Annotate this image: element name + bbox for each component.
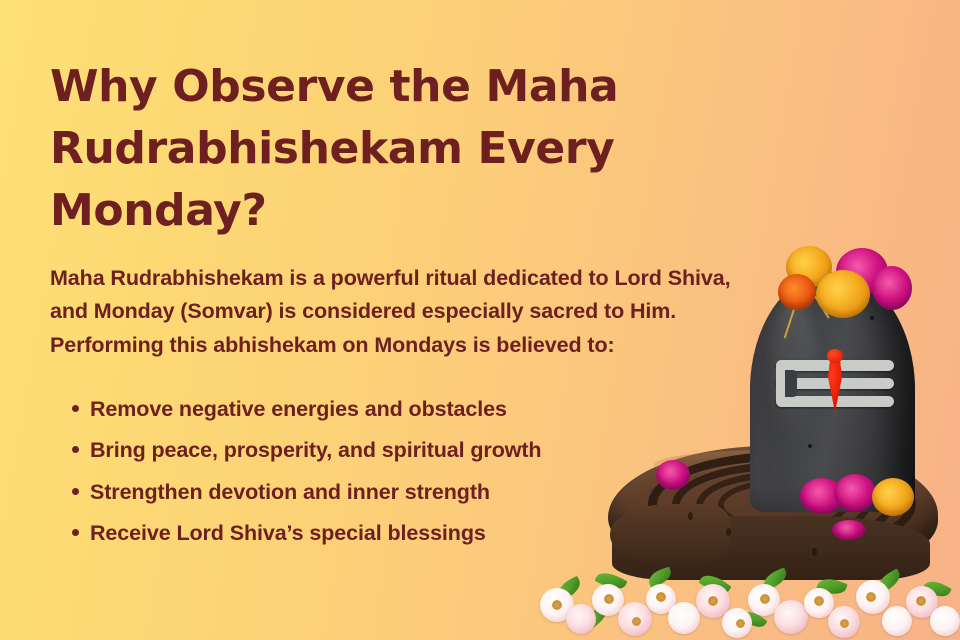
magenta-flower bbox=[834, 474, 876, 512]
list-item: Strengthen devotion and inner strength bbox=[72, 475, 780, 509]
tripundra-icon bbox=[776, 358, 896, 410]
blossom-flower bbox=[540, 588, 574, 622]
page-title: Why Observe the Maha Rudrabhishekam Ever… bbox=[50, 56, 780, 242]
marigold-flower bbox=[778, 274, 816, 310]
headline-line-1: Why Observe the Maha bbox=[50, 56, 780, 118]
magenta-flower bbox=[872, 266, 912, 310]
leaf-icon bbox=[554, 576, 584, 601]
promotional-banner: Why Observe the Maha Rudrabhishekam Ever… bbox=[0, 0, 960, 640]
lingam-pore bbox=[808, 444, 812, 448]
lingam-pore bbox=[870, 316, 874, 320]
magenta-flower bbox=[832, 520, 866, 540]
list-item-label: Strengthen devotion and inner strength bbox=[90, 480, 490, 504]
bullet-dot-icon bbox=[72, 529, 79, 536]
body-paragraph: Maha Rudrabhishekam is a powerful ritual… bbox=[50, 242, 770, 362]
blossom-flower bbox=[566, 604, 596, 634]
bullet-dot-icon bbox=[72, 488, 79, 495]
bullet-dot-icon bbox=[72, 405, 79, 412]
list-item: Receive Lord Shiva’s special blessings bbox=[72, 516, 780, 550]
headline-line-2: Rudrabhishekam Every bbox=[50, 118, 780, 180]
benefits-list: Remove negative energies and obstacles B… bbox=[50, 362, 780, 551]
tripundra-inner-gap bbox=[785, 370, 797, 397]
list-item: Remove negative energies and obstacles bbox=[72, 392, 780, 426]
marigold-flower bbox=[816, 270, 870, 318]
list-item-label: Remove negative energies and obstacles bbox=[90, 397, 507, 421]
bullet-dot-icon bbox=[72, 446, 79, 453]
base-speck bbox=[812, 548, 817, 556]
text-content-column: Why Observe the Maha Rudrabhishekam Ever… bbox=[50, 56, 780, 558]
list-item-label: Bring peace, prosperity, and spiritual g… bbox=[90, 438, 541, 462]
list-item-label: Receive Lord Shiva’s special blessings bbox=[90, 521, 486, 545]
bindu-top-icon bbox=[827, 349, 843, 363]
list-item: Bring peace, prosperity, and spiritual g… bbox=[72, 433, 780, 467]
blossom-center bbox=[552, 600, 562, 610]
marigold-flower bbox=[872, 478, 914, 516]
headline-line-3: Monday? bbox=[50, 180, 780, 242]
